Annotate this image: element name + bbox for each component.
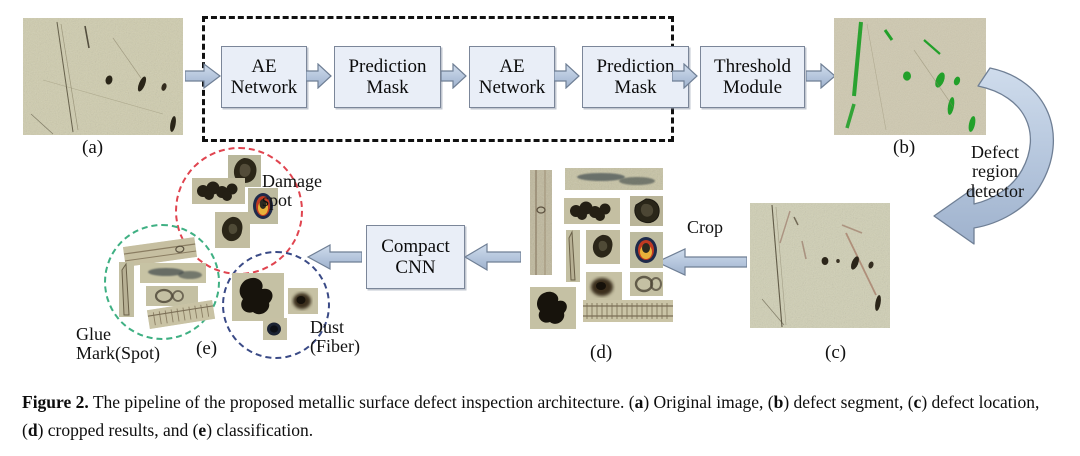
box-compact-cnn-line1: Compact (381, 236, 450, 257)
label-dust-fiber: Dust (Fiber) (310, 318, 392, 357)
arrow-threshold-to-b (806, 63, 836, 89)
damage-spot-line2: spot (262, 190, 292, 210)
caption-ref-d: d (28, 420, 38, 440)
patch-glue-blur-mid (140, 263, 206, 283)
box-compact-cnn[interactable]: Compact CNN (366, 225, 465, 289)
panel-a-image (23, 18, 183, 135)
arrow-mask1-to-ae2 (441, 63, 467, 89)
figure-container: (a) AE Network Prediction Mask AE Ne (0, 0, 1080, 456)
box-threshold-module-line1: Threshold (714, 56, 791, 77)
box-prediction-mask-1-line2: Mask (348, 77, 426, 98)
patch-glue-needle (566, 230, 580, 282)
patch-glue-vertical-bar (119, 262, 134, 317)
box-ae-network-1-line2: Network (231, 77, 297, 98)
patch-damage-cluster-strip (564, 198, 620, 224)
caption-part-1: The pipeline of the proposed metallic su… (89, 392, 635, 412)
arrow-ae2-to-mask2 (554, 63, 580, 89)
box-threshold-module-line2: Module (714, 77, 791, 98)
defect-label-line3: detector (966, 181, 1024, 201)
arrow-ae1-to-mask1 (306, 63, 332, 89)
arrow-d-to-cnn (463, 242, 521, 272)
figure-caption: Figure 2. The pipeline of the proposed m… (22, 388, 1062, 445)
label-defect-region-detector: Defect region detector (940, 143, 1050, 201)
panel-c-image (750, 203, 890, 328)
patch-dust-fiber-large (530, 287, 576, 329)
box-prediction-mask-1[interactable]: Prediction Mask (334, 46, 441, 108)
defect-label-line2: region (972, 161, 1018, 181)
label-glue-mark: Glue Mark(Spot) (76, 325, 186, 364)
arrow-mask2-to-threshold (672, 63, 698, 89)
patch-glue-strip-vertical (530, 170, 552, 275)
box-threshold-module[interactable]: Threshold Module (700, 46, 805, 108)
patch-dust-small (263, 318, 287, 340)
box-ae-network-1-line1: AE (231, 56, 297, 77)
box-ae-network-2[interactable]: AE Network (469, 46, 555, 108)
glue-mark-line1: Glue (76, 324, 111, 344)
patch-damage-blob-bottom (215, 212, 250, 248)
patch-dust-smudge (586, 272, 622, 300)
label-damage-spot: Damage spot (262, 172, 348, 211)
panel-c-label: (c) (825, 342, 846, 364)
caption-ref-b: b (774, 392, 784, 412)
patch-dust-fiber-big (232, 273, 284, 321)
patch-damage-ring-colored (630, 232, 663, 268)
box-ae-network-2-line2: Network (479, 77, 545, 98)
defect-label-line1: Defect (971, 142, 1019, 162)
arrow-crop (655, 247, 747, 277)
panel-d-label: (d) (590, 342, 612, 364)
box-ae-network-2-line1: AE (479, 56, 545, 77)
figure-number: Figure 2. (22, 392, 89, 412)
patch-damage-spot-round-1 (630, 196, 663, 226)
patch-glue-mark-ribbed-strip (583, 300, 673, 322)
dust-fiber-line2: (Fiber) (310, 336, 360, 356)
box-prediction-mask-2-line1: Prediction (596, 56, 674, 77)
damage-spot-line1: Damage (262, 171, 322, 191)
patch-damage-spot-round-2 (586, 230, 620, 264)
box-prediction-mask-1-line1: Prediction (348, 56, 426, 77)
patch-dust-smudge-right (288, 288, 318, 314)
panel-e-label: (e) (196, 338, 217, 360)
caption-part-2: ) Original image, ( (643, 392, 773, 412)
box-compact-cnn-line2: CNN (381, 257, 450, 278)
arrow-a-to-ae1 (185, 63, 221, 89)
dust-fiber-line1: Dust (310, 317, 344, 337)
panel-b-label: (b) (893, 137, 915, 159)
caption-part-5: ) cropped results, and ( (38, 420, 199, 440)
patch-glue-mark-wide-top (565, 168, 663, 190)
panel-a-label: (a) (82, 137, 103, 159)
box-ae-network-1[interactable]: AE Network (221, 46, 307, 108)
caption-part-3: ) defect segment, ( (783, 392, 913, 412)
caption-part-6: ) classification. (206, 420, 313, 440)
box-prediction-mask-2-line2: Mask (596, 77, 674, 98)
glue-mark-line2: Mark(Spot) (76, 343, 160, 363)
label-crop: Crop (670, 218, 740, 237)
patch-damage-cluster-left (192, 178, 245, 204)
patch-faint-ring (630, 272, 663, 296)
